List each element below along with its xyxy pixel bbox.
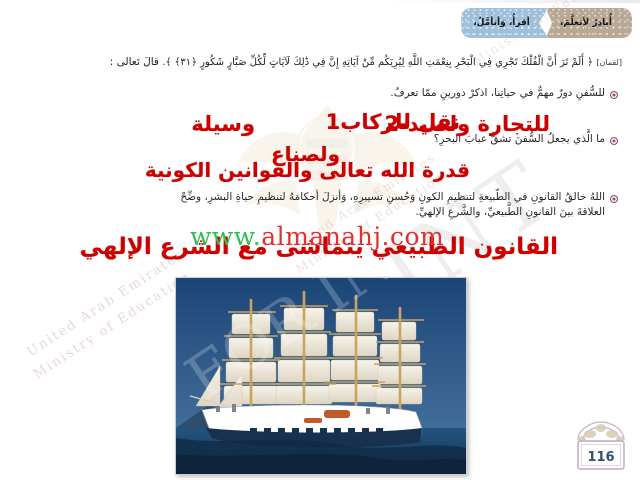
question-3-text: اللهُ خالقُ القانونِ في الطّبيعةِ لتنظيم… [165,190,605,220]
handwritten-answer-5: القانون الطبيعي يتماشى مع الشرع الإلهي [80,234,558,260]
banner-right-label: أُبادِرُ لأتعلَّمَ، [560,18,612,28]
banner-segment-left: أقرأُ، وَأتأمَّلُ، [461,8,548,38]
ministry-watermark-line2-alt: Ministry of Education [293,170,447,277]
surah-reference: [لقمان] [596,58,622,67]
handwritten-answer-1b: وسيلة [191,112,255,136]
quran-verse-line: [لقمان] ﴿ أَلَمْ تَرَ أَنَّ الْفُلْكَ تَ… [22,56,622,68]
scan-edge [0,0,640,3]
textbook-page: FOR INT United Arab Emirates Ministry of… [0,0,640,480]
bullet-dot-icon [610,91,618,99]
question-item-1: للسُّفنِ دورٌ مهمٌّ في حياتِنا، اذكرْ دو… [390,86,618,101]
question-3-line-1: اللهُ خالقُ القانونِ في الطّبيعةِ لتنظيم… [180,191,605,203]
question-1-text: للسُّفنِ دورٌ مهمٌّ في حياتِنا، اذكرْ دو… [390,86,605,101]
handwritten-answer-2: للتجارة ولصيد-2 [384,112,550,136]
handwritten-answer-4: قدرة الله تعالى والقوانين الكونية [145,158,470,182]
bullet-dot-icon [610,195,618,203]
page-number: 116 [572,450,630,465]
page-number-ornament: 116 [572,416,630,474]
ship-illustration [176,278,466,474]
quran-verse-text: ﴿ أَلَمْ تَرَ أَنَّ الْفُلْكَ تَجْرِي فِ… [162,57,593,68]
question-item-3: اللهُ خالقُ القانونِ في الطّبيعةِ لتنظيم… [158,190,618,220]
bullet-dot-icon [610,137,618,145]
question-3-line-2: العلاقةَ بينَ القانونِ الطَّبيعيِّ، والش… [416,206,605,218]
banner-segment-right: أُبادِرُ لأتعلَّمَ، [546,8,632,38]
ministry-watermark-line1: United Arab Emirates [25,247,188,360]
section-header-banner: أُبادِرُ لأتعلَّمَ، أقرأُ، وَأتأمَّلُ، [461,8,632,38]
verse-intro: قالَ تَعالى : [110,56,159,68]
ministry-watermark-line2: Ministry of Education [31,269,194,382]
ship-photo: FOR INT [175,277,467,475]
banner-left-label: أقرأُ، وَأتأمَّلُ، [473,18,530,28]
